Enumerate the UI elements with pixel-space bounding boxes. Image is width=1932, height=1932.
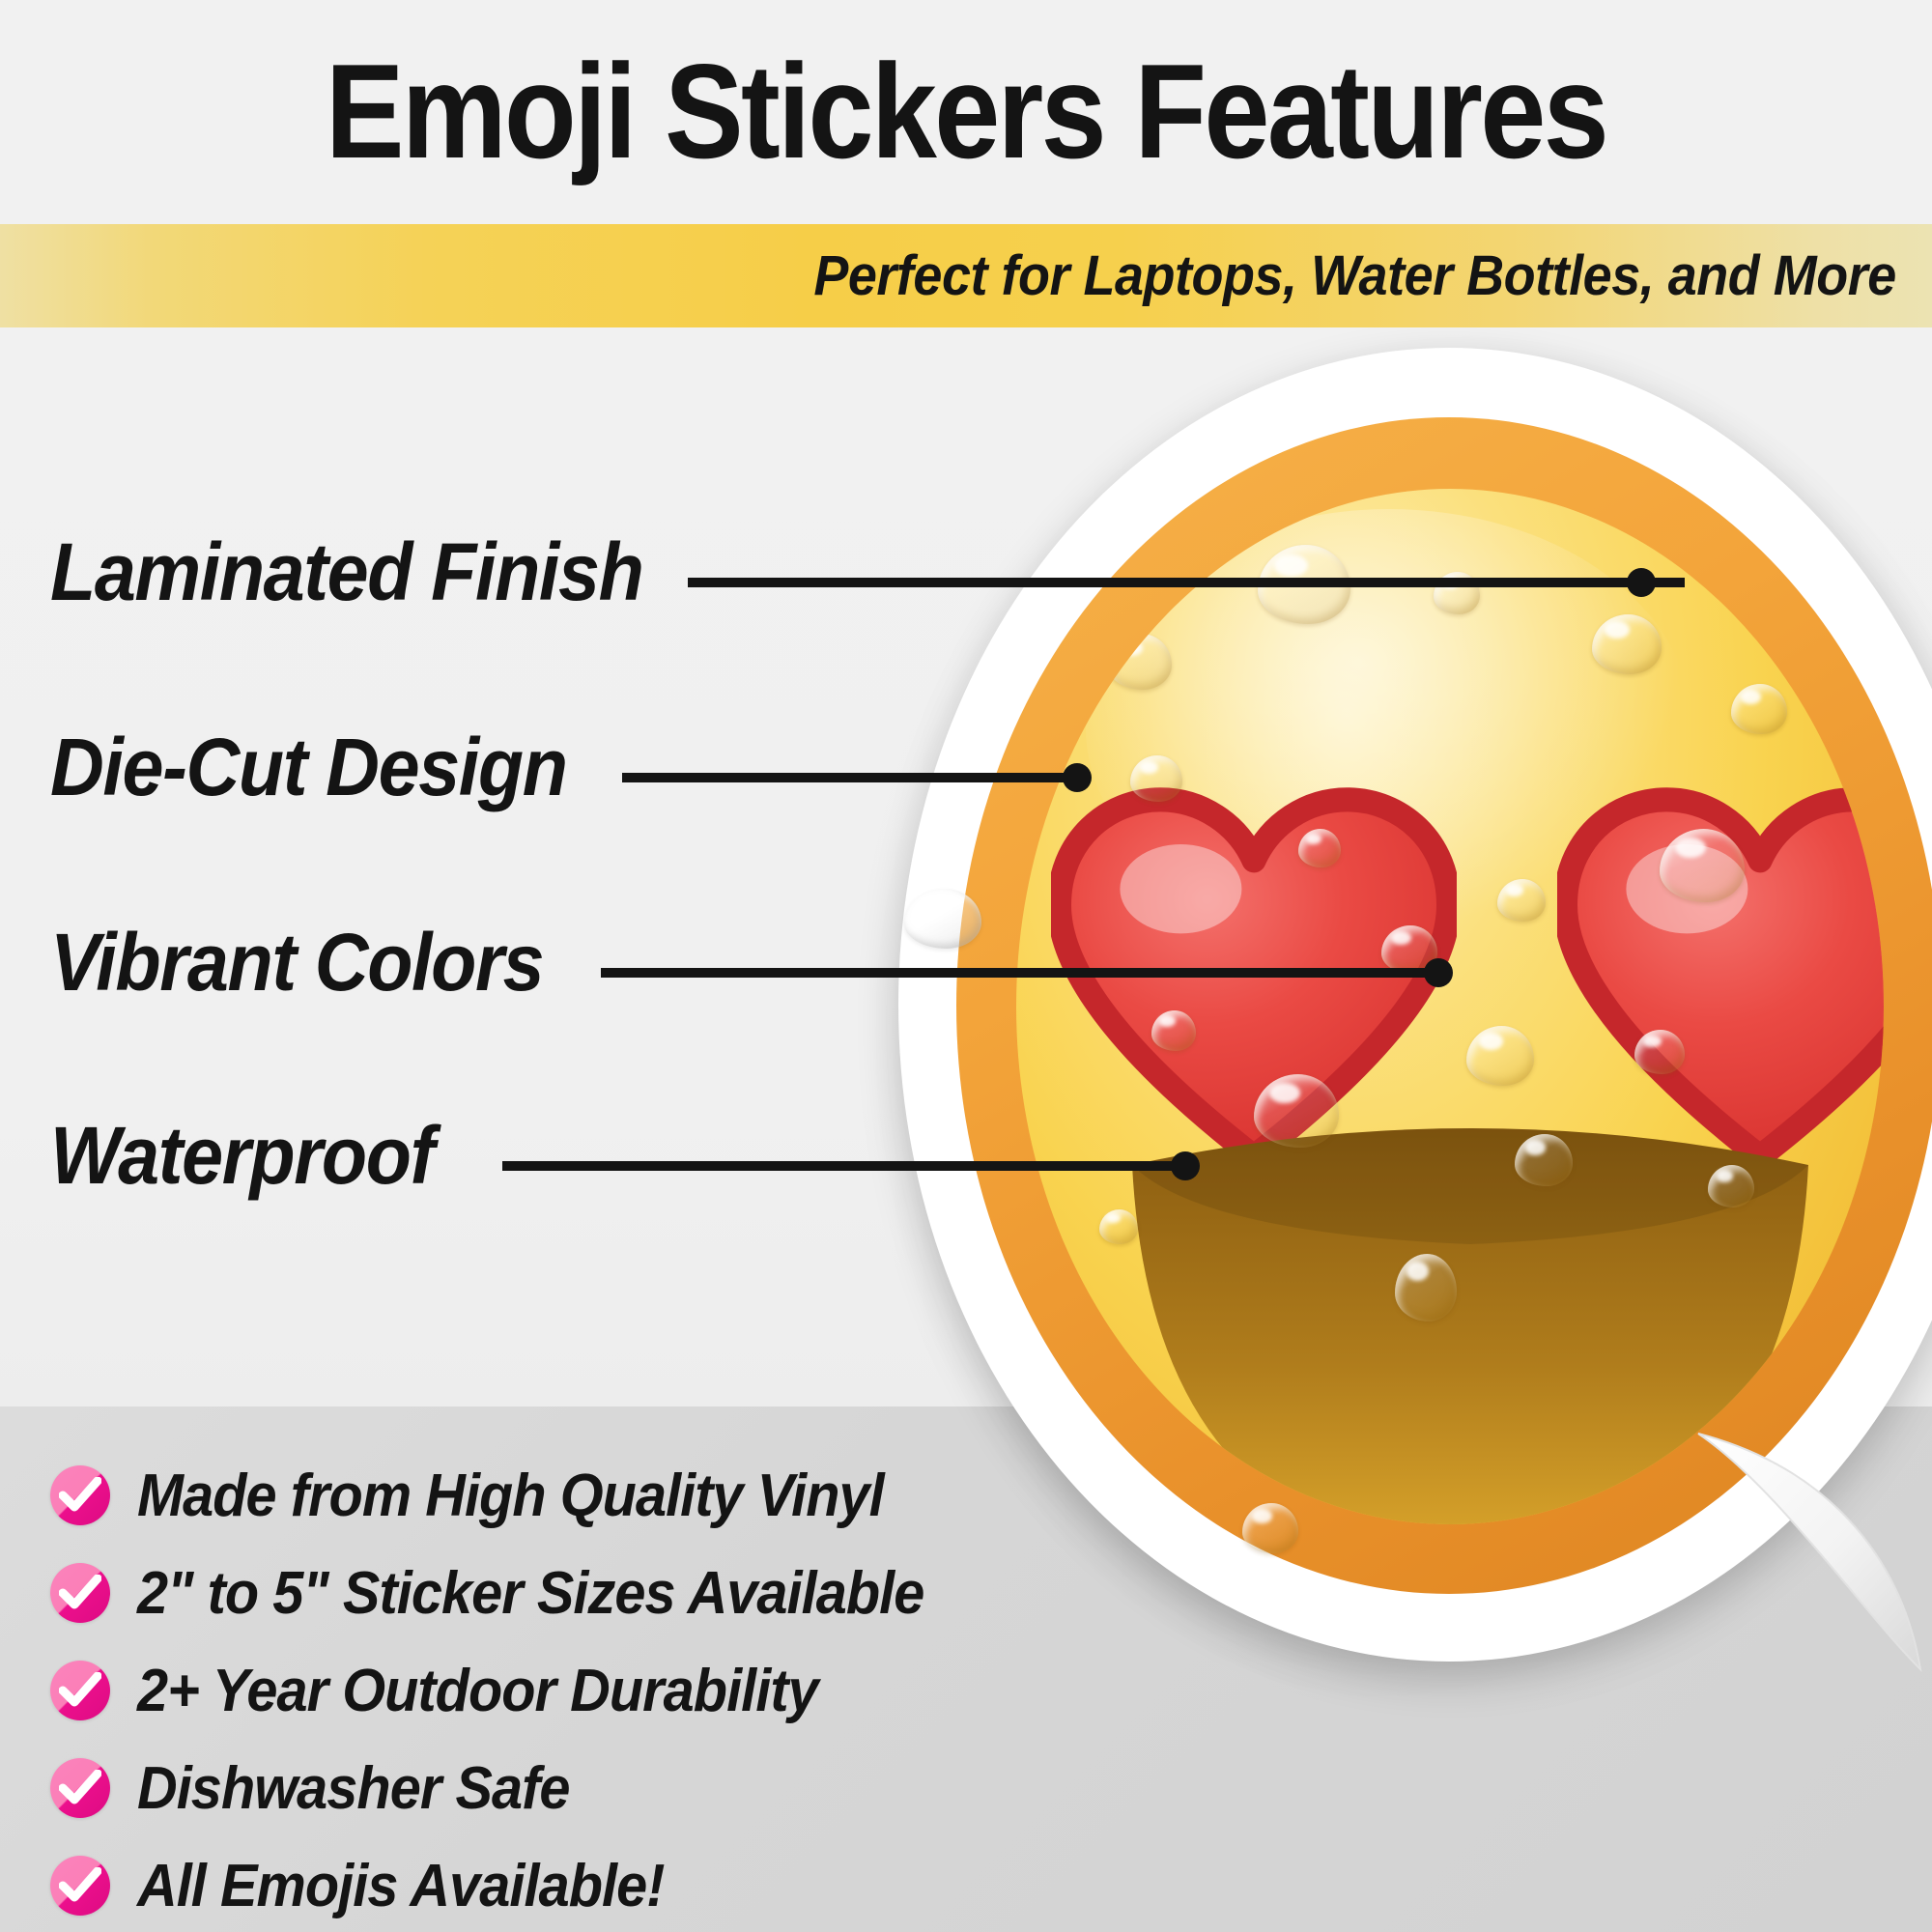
checklist-item: 2" to 5" Sticker Sizes Available	[50, 1547, 1209, 1639]
leader-line	[622, 773, 1088, 782]
check-circle-icon	[50, 1856, 110, 1916]
checklist-label: Dishwasher Safe	[137, 1754, 570, 1823]
checklist-label: 2+ Year Outdoor Durability	[137, 1657, 818, 1725]
page-title: Emoji Stickers Features	[116, 44, 1816, 179]
check-circle-icon	[50, 1661, 110, 1720]
checklist-item: 2+ Year Outdoor Durability	[50, 1644, 1209, 1737]
leader-dot	[1424, 958, 1453, 987]
subtitle-band: Perfect for Laptops, Water Bottles, and …	[0, 224, 1932, 327]
checklist-item: Dishwasher Safe	[50, 1742, 1209, 1834]
feature-label: Laminated Finish	[50, 526, 642, 619]
feature-label: Die-Cut Design	[50, 721, 567, 814]
leader-dot	[1063, 763, 1092, 792]
checklist-label: 2" to 5" Sticker Sizes Available	[137, 1559, 923, 1628]
infographic-page: Emoji Stickers Features Perfect for Lapt…	[0, 0, 1932, 1932]
page-subtitle: Perfect for Laptops, Water Bottles, and …	[135, 224, 1932, 327]
checklist-label: All Emojis Available!	[137, 1852, 665, 1920]
leader-dot	[1627, 568, 1656, 597]
feature-label: Waterproof	[50, 1109, 434, 1203]
feature-checklist: Made from High Quality Vinyl 2" to 5" St…	[50, 1449, 1209, 1932]
leader-dot	[1171, 1151, 1200, 1180]
check-circle-icon	[50, 1758, 110, 1818]
check-circle-icon	[50, 1465, 110, 1525]
leader-line	[502, 1161, 1196, 1171]
check-circle-icon	[50, 1563, 110, 1623]
mid-background	[0, 327, 1932, 1406]
leader-line	[688, 578, 1685, 587]
feature-label: Vibrant Colors	[50, 916, 543, 1009]
checklist-item: All Emojis Available!	[50, 1839, 1209, 1932]
checklist-item: Made from High Quality Vinyl	[50, 1449, 1209, 1542]
header: Emoji Stickers Features	[0, 0, 1932, 224]
leader-line	[601, 968, 1449, 978]
checklist-label: Made from High Quality Vinyl	[137, 1462, 884, 1530]
